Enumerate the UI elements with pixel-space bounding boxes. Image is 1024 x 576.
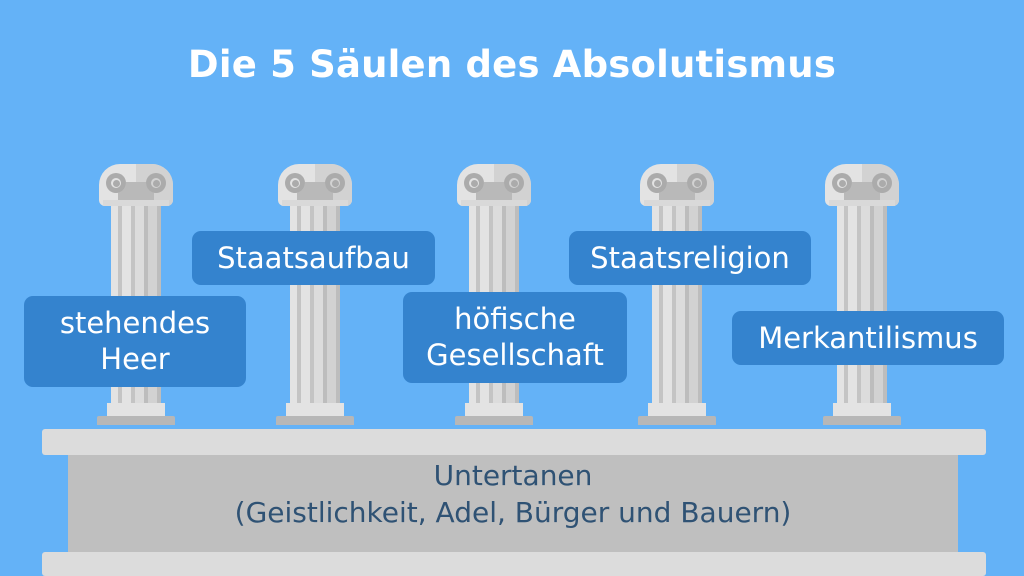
platform-bottom-slab bbox=[42, 552, 986, 576]
column-capital bbox=[640, 164, 714, 206]
column-capital bbox=[825, 164, 899, 206]
column-capital bbox=[457, 164, 531, 206]
volute-right-icon bbox=[146, 173, 166, 193]
volute-left-icon bbox=[647, 173, 667, 193]
column-base-lower bbox=[823, 416, 901, 425]
volute-right-icon bbox=[872, 173, 892, 193]
column-base-lower bbox=[276, 416, 354, 425]
pillars-diagram: Die 5 Säulen des Absolutismus bbox=[0, 0, 1024, 576]
column-base-upper bbox=[286, 403, 344, 416]
pillar-label-merkantilismus[interactable]: Merkantilismus bbox=[732, 311, 1004, 365]
volute-right-icon bbox=[687, 173, 707, 193]
page-title: Die 5 Säulen des Absolutismus bbox=[0, 44, 1024, 87]
column-base-upper bbox=[648, 403, 706, 416]
column-base-lower bbox=[97, 416, 175, 425]
volute-right-icon bbox=[325, 173, 345, 193]
column-base-lower bbox=[455, 416, 533, 425]
platform-caption: Untertanen (Geistlichkeit, Adel, Bürger … bbox=[68, 458, 958, 532]
column-capital bbox=[278, 164, 352, 206]
column-shaft bbox=[837, 206, 887, 403]
pillar-label-staatsreligion[interactable]: Staatsreligion bbox=[569, 231, 811, 285]
column-capital bbox=[99, 164, 173, 206]
column-base-upper bbox=[833, 403, 891, 416]
column-base-lower bbox=[638, 416, 716, 425]
platform-caption-line2: (Geistlichkeit, Adel, Bürger und Bauern) bbox=[68, 495, 958, 532]
column-base-upper bbox=[465, 403, 523, 416]
platform-top-slab bbox=[42, 429, 986, 455]
column-base-upper bbox=[107, 403, 165, 416]
volute-right-icon bbox=[504, 173, 524, 193]
volute-left-icon bbox=[285, 173, 305, 193]
volute-left-icon bbox=[464, 173, 484, 193]
pillar-label-staatsaufbau[interactable]: Staatsaufbau bbox=[192, 231, 435, 285]
volute-left-icon bbox=[106, 173, 126, 193]
pillar-label-hoefische-gesellschaft[interactable]: höfische Gesellschaft bbox=[403, 292, 627, 383]
platform-caption-line1: Untertanen bbox=[434, 459, 593, 492]
pillar-label-stehendes-heer[interactable]: stehendes Heer bbox=[24, 296, 246, 387]
volute-left-icon bbox=[832, 173, 852, 193]
